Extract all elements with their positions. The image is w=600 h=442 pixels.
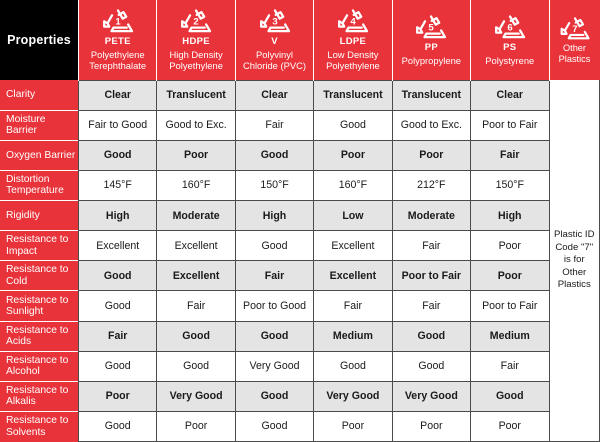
column-fullname: Polypropylene	[394, 55, 469, 66]
recycling-symbol-icon: 1	[80, 7, 155, 35]
cell: Fair	[314, 291, 392, 321]
cell: 150°F	[235, 170, 313, 200]
svg-text:6: 6	[507, 22, 512, 33]
recycling-symbol-icon: 3	[237, 7, 312, 35]
table-header: Properties 1 PETE Polyethyl	[0, 0, 600, 80]
column-fullname: Other Plastics	[551, 43, 599, 64]
plastic-properties-chart: Properties 1 PETE Polyethyl	[0, 0, 600, 442]
cell: Translucent	[157, 80, 235, 110]
svg-text:3: 3	[272, 17, 277, 28]
cell: High	[79, 201, 157, 231]
column-header-other: 7 Other Plastics	[549, 0, 600, 80]
cell: Moderate	[157, 201, 235, 231]
cell: Good to Exc.	[392, 110, 470, 140]
cell: Medium	[471, 321, 549, 351]
cell: Poor	[79, 381, 157, 411]
cell: Clear	[471, 80, 549, 110]
column-header-v: 3 V Polyvinyl Chloride (PVC)	[235, 0, 313, 80]
cell: Good	[235, 381, 313, 411]
cell: 150°F	[471, 170, 549, 200]
column-fullname: Polyvinyl Chloride (PVC)	[237, 49, 312, 71]
properties-header-cell: Properties	[0, 0, 79, 80]
row-label: Clarity	[0, 80, 79, 110]
cell: Poor	[314, 140, 392, 170]
column-abbr: V	[237, 36, 312, 47]
row-label: Resistance to Cold	[0, 261, 79, 291]
cell: Good	[392, 321, 470, 351]
cell: Translucent	[314, 80, 392, 110]
cell: Good	[79, 261, 157, 291]
row-label: Rigidity	[0, 201, 79, 231]
cell: Poor	[471, 261, 549, 291]
table-row: Resistance to Alkalis Poor Very Good Goo…	[0, 381, 600, 411]
column-fullname: High Density Polyethylene	[158, 49, 233, 71]
cell: Poor	[314, 411, 392, 441]
column-header-pp: 5 PP Polypropylene	[392, 0, 470, 80]
recycling-symbol-icon: 6	[472, 13, 547, 41]
cell: Good	[79, 411, 157, 441]
cell: Good	[79, 351, 157, 381]
cell: Good	[157, 321, 235, 351]
cell: Poor	[471, 231, 549, 261]
cell: Good	[314, 351, 392, 381]
cell: Poor	[392, 140, 470, 170]
cell: Low	[314, 201, 392, 231]
svg-text:7: 7	[572, 24, 577, 34]
cell: Excellent	[157, 231, 235, 261]
row-label: Resistance to Alcohol	[0, 351, 79, 381]
cell: 145°F	[79, 170, 157, 200]
cell: Fair	[157, 291, 235, 321]
cell: Excellent	[79, 231, 157, 261]
cell: Fair to Good	[79, 110, 157, 140]
header-row: Properties 1 PETE Polyethyl	[0, 0, 600, 80]
table-row: Resistance to Sunlight Good Fair Poor to…	[0, 291, 600, 321]
svg-text:5: 5	[429, 22, 435, 33]
row-label: Distortion Temperature	[0, 170, 79, 200]
table-row: Rigidity High Moderate High Low Moderate…	[0, 201, 600, 231]
cell: Fair	[235, 261, 313, 291]
column-fullname: Polystyrene	[472, 55, 547, 66]
column-header-hdpe: 2 HDPE High Density Polyethylene	[157, 0, 235, 80]
cell: Fair	[471, 140, 549, 170]
table-row: Distortion Temperature 145°F 160°F 150°F…	[0, 170, 600, 200]
cell: Good	[471, 381, 549, 411]
table-row: Resistance to Alcohol Good Good Very Goo…	[0, 351, 600, 381]
table-row: Resistance to Impact Excellent Excellent…	[0, 231, 600, 261]
cell: Excellent	[314, 261, 392, 291]
cell: High	[235, 201, 313, 231]
cell: Translucent	[392, 80, 470, 110]
column-abbr: PETE	[80, 36, 155, 47]
cell: Very Good	[235, 351, 313, 381]
row-label: Moisture Barrier	[0, 110, 79, 140]
cell: Clear	[235, 80, 313, 110]
cell: Good	[235, 411, 313, 441]
table-row: Moisture Barrier Fair to Good Good to Ex…	[0, 110, 600, 140]
column-fullname: Polyethylene Terephthalate	[80, 49, 155, 71]
table-row: Resistance to Solvents Good Poor Good Po…	[0, 411, 600, 441]
column-fullname: Low Density Polyethylene	[315, 49, 390, 71]
column-abbr: PP	[394, 42, 469, 53]
cell: Good to Exc.	[157, 110, 235, 140]
cell: Excellent	[157, 261, 235, 291]
row-label: Oxygen Barrier	[0, 140, 79, 170]
recycling-symbol-icon: 7	[551, 15, 599, 42]
cell: Good	[314, 110, 392, 140]
table-row: Resistance to Acids Fair Good Good Mediu…	[0, 321, 600, 351]
column-header-pete: 1 PETE Polyethylene Terephthalate	[79, 0, 157, 80]
cell: Fair	[79, 321, 157, 351]
cell: Excellent	[314, 231, 392, 261]
table-body: Clarity Clear Translucent Clear Transluc…	[0, 80, 600, 442]
other-plastics-note: Plastic ID Code "7" is for Other Plastic…	[549, 80, 600, 442]
row-label: Resistance to Solvents	[0, 411, 79, 441]
cell: Very Good	[314, 381, 392, 411]
cell: Fair	[235, 110, 313, 140]
svg-text:4: 4	[350, 17, 356, 28]
cell: High	[471, 201, 549, 231]
cell: Good	[392, 351, 470, 381]
cell: Poor to Fair	[471, 110, 549, 140]
cell: Fair	[392, 291, 470, 321]
column-header-ps: 6 PS Polystyrene	[471, 0, 549, 80]
cell: Poor to Fair	[392, 261, 470, 291]
svg-text:1: 1	[115, 17, 121, 28]
cell: Poor to Fair	[471, 291, 549, 321]
cell: Poor	[471, 411, 549, 441]
plastic-comparison-table: Properties 1 PETE Polyethyl	[0, 0, 600, 442]
cell: 160°F	[157, 170, 235, 200]
column-abbr: LDPE	[315, 36, 390, 47]
table-row: Clarity Clear Translucent Clear Transluc…	[0, 80, 600, 110]
cell: Good	[157, 351, 235, 381]
cell: Poor	[392, 411, 470, 441]
row-label: Resistance to Alkalis	[0, 381, 79, 411]
cell: Good	[79, 291, 157, 321]
row-label: Resistance to Impact	[0, 231, 79, 261]
cell: Moderate	[392, 201, 470, 231]
table-row: Resistance to Cold Good Excellent Fair E…	[0, 261, 600, 291]
cell: Clear	[79, 80, 157, 110]
column-abbr: HDPE	[158, 36, 233, 47]
cell: 212°F	[392, 170, 470, 200]
table-row: Oxygen Barrier Good Poor Good Poor Poor …	[0, 140, 600, 170]
cell: Medium	[314, 321, 392, 351]
cell: Fair	[392, 231, 470, 261]
recycling-symbol-icon: 2	[158, 7, 233, 35]
column-header-ldpe: 4 LDPE Low Density Polyethylene	[314, 0, 392, 80]
cell: Fair	[471, 351, 549, 381]
svg-text:2: 2	[193, 17, 198, 28]
cell: 160°F	[314, 170, 392, 200]
recycling-symbol-icon: 4	[315, 7, 390, 35]
row-label: Resistance to Acids	[0, 321, 79, 351]
cell: Good	[79, 140, 157, 170]
cell: Poor	[157, 411, 235, 441]
row-label: Resistance to Sunlight	[0, 291, 79, 321]
cell: Good	[235, 140, 313, 170]
cell: Very Good	[392, 381, 470, 411]
cell: Good	[235, 321, 313, 351]
cell: Very Good	[157, 381, 235, 411]
column-abbr: PS	[472, 42, 547, 53]
recycling-symbol-icon: 5	[394, 13, 469, 41]
cell: Good	[235, 231, 313, 261]
cell: Poor to Good	[235, 291, 313, 321]
cell: Poor	[157, 140, 235, 170]
